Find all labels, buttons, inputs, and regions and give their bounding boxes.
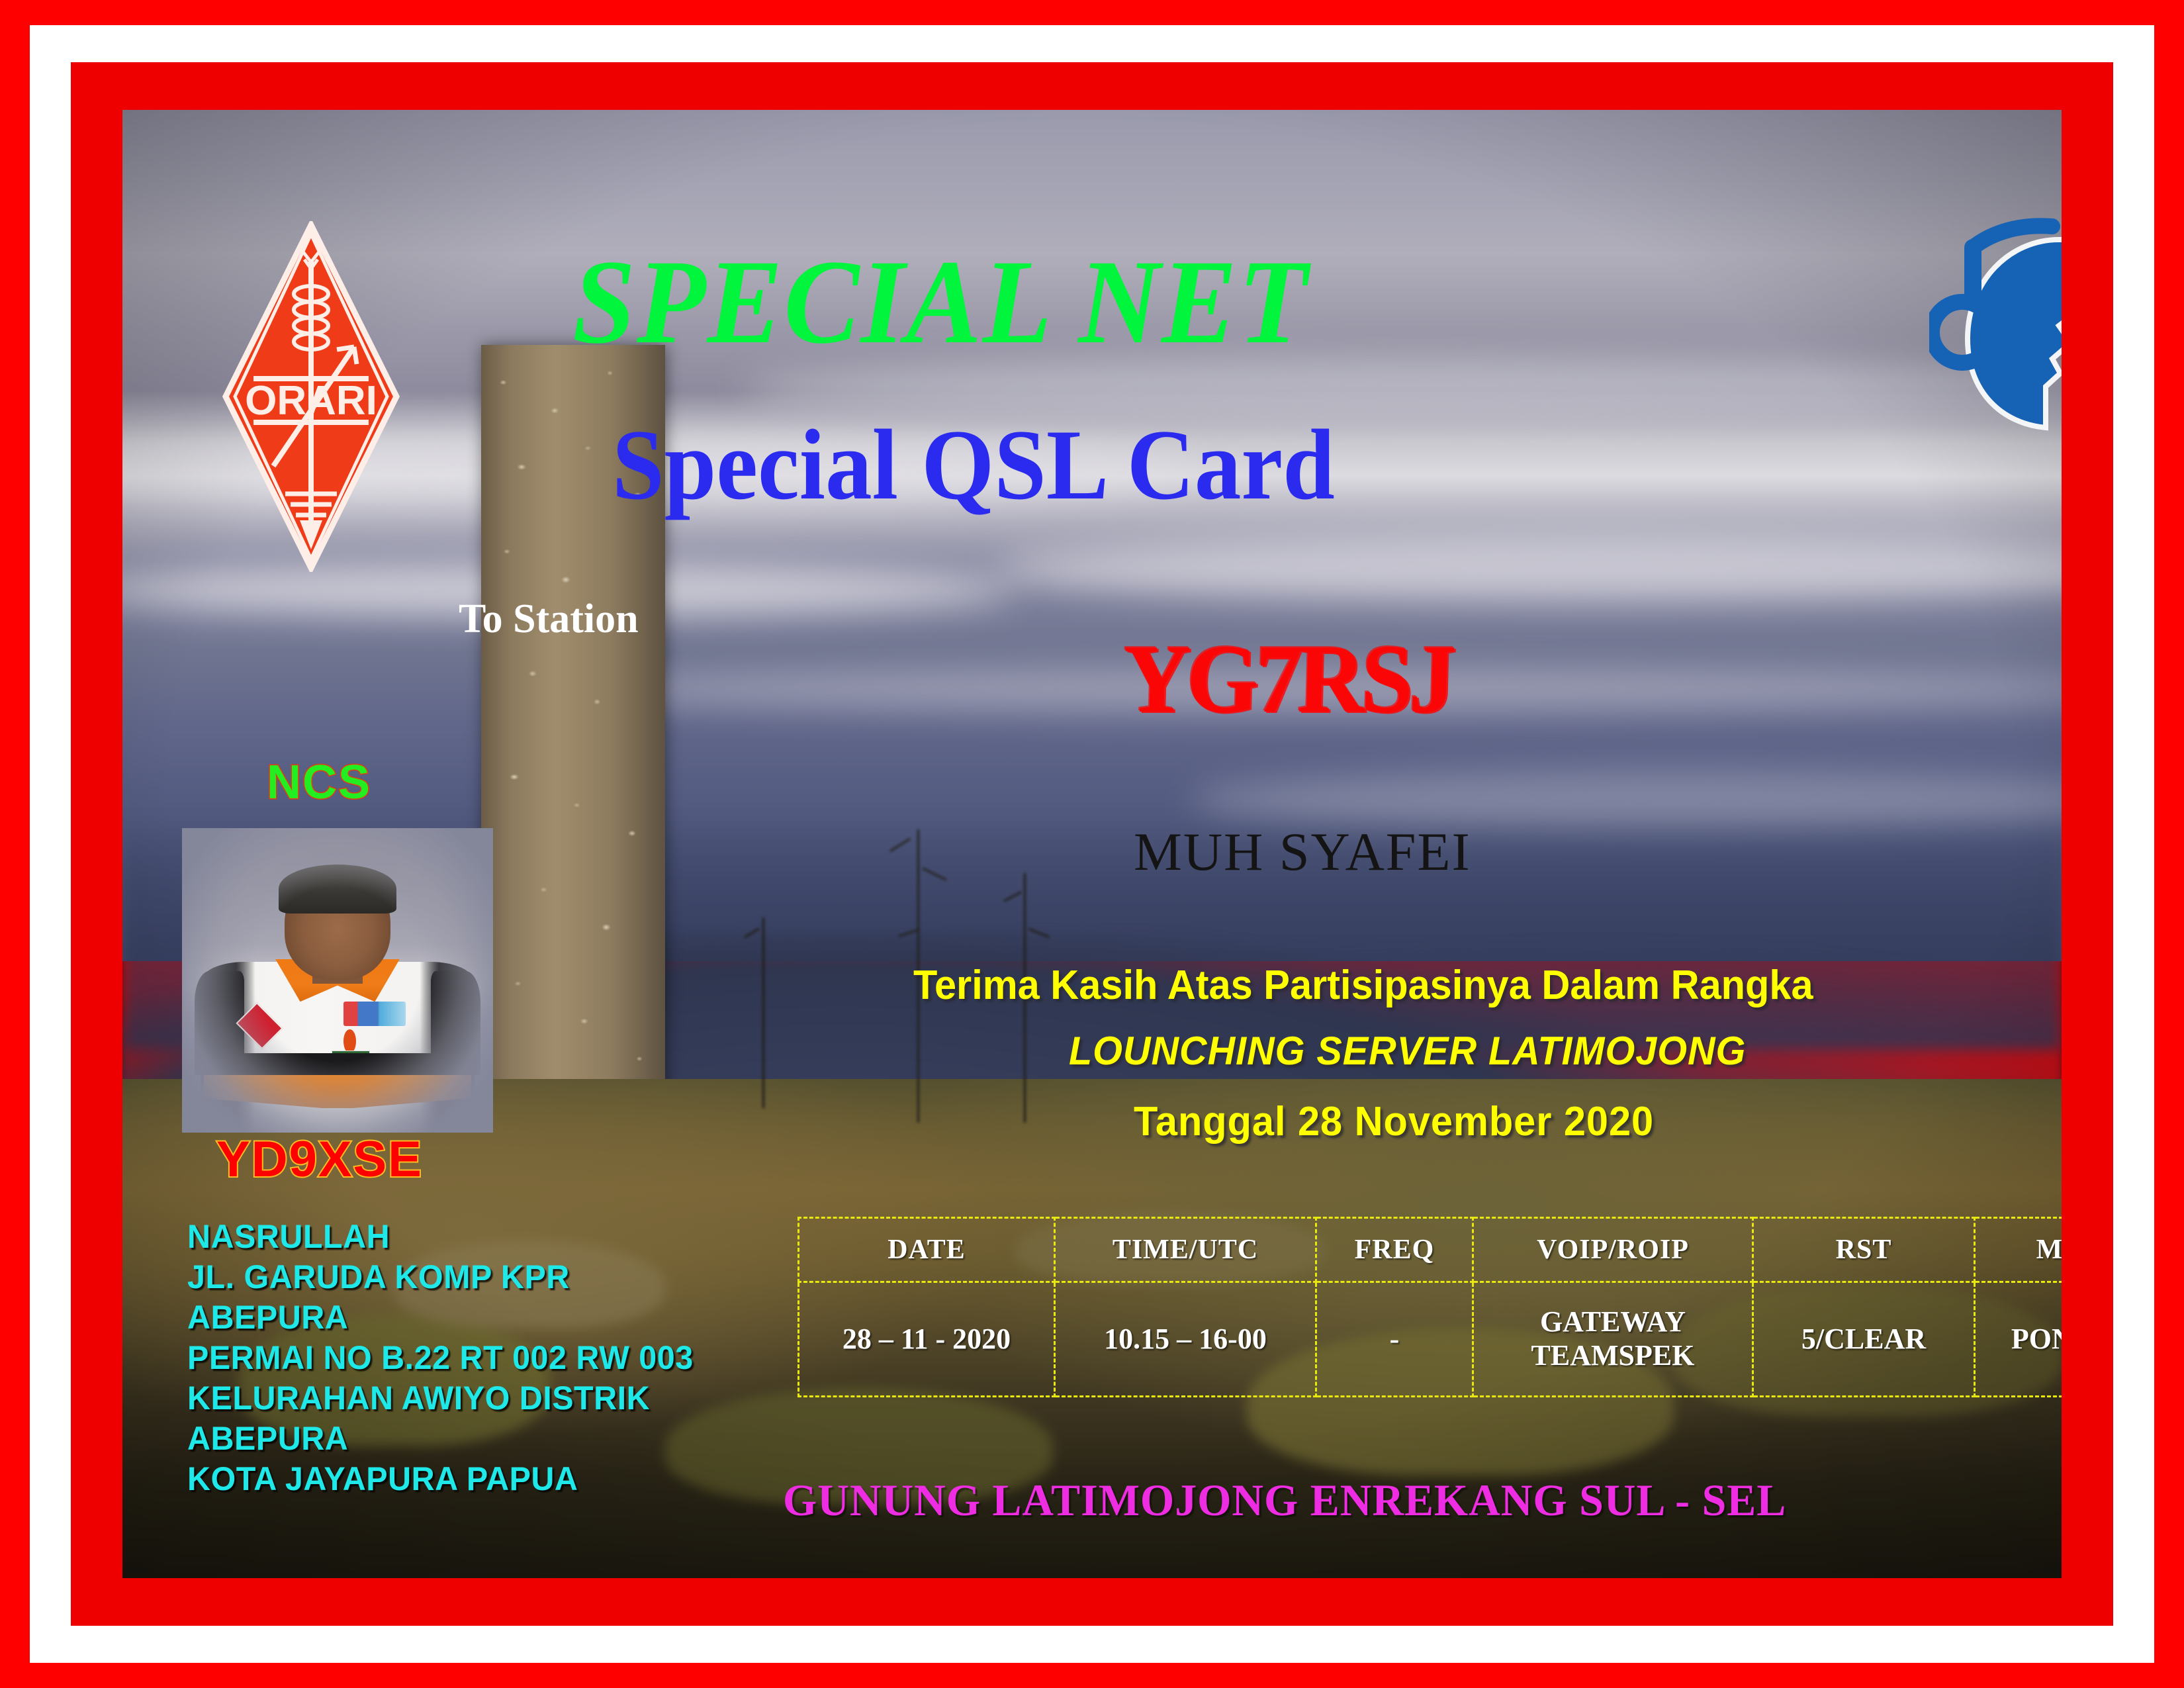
column-header-time: TIME/UTC	[1055, 1218, 1316, 1282]
head-with-headphones-icon	[1929, 209, 2062, 461]
station-callsign: YG7RSJ	[1122, 630, 1453, 728]
column-header-mode: MODE	[1975, 1218, 2062, 1282]
address-line: ABEPURA	[187, 1297, 694, 1338]
column-header-date: DATE	[799, 1218, 1055, 1282]
portrait-vignette	[182, 828, 493, 1133]
cell-freq: -	[1316, 1282, 1473, 1397]
cell-rst: 5/CLEAR	[1753, 1282, 1975, 1397]
column-header-freq: FREQ	[1316, 1218, 1473, 1282]
page-subtitle: Special QSL Card	[612, 414, 1335, 515]
mailing-address-block: NASRULLAH JL. GARUDA KOMP KPR ABEPURA PE…	[187, 1217, 709, 1499]
ncs-label: NCS	[267, 759, 371, 806]
bare-tree	[762, 917, 764, 1108]
address-line: NASRULLAH	[187, 1217, 694, 1257]
headphone-wave-logo	[1929, 209, 2062, 461]
qso-log-table: DATE TIME/UTC FREQ VOIP/ROIP RST MODE 28…	[797, 1217, 2062, 1397]
page-title: SPECIAL NET	[572, 242, 1308, 363]
address-line: ABEPURA	[187, 1419, 694, 1459]
to-station-label: To Station	[459, 598, 639, 639]
white-frame-border: ORARI	[30, 25, 2154, 1663]
thanks-message: Terima Kasih Atas Partisipasinya Dalam R…	[913, 965, 1813, 1006]
event-title: LOUNCHING SERVER LATIMOJONG	[1069, 1031, 1746, 1071]
cell-mode: PONE/CW	[1975, 1282, 2062, 1397]
background-photograph: ORARI	[122, 110, 2062, 1578]
address-line: PERMAI NO B.22 RT 002 RW 003	[187, 1338, 694, 1378]
ncs-operator-photo	[182, 828, 493, 1133]
column-header-rst: RST	[1753, 1218, 1975, 1282]
cell-date: 28 – 11 - 2020	[799, 1282, 1055, 1397]
qsl-card: ORARI	[0, 0, 2184, 1688]
orari-logo: ORARI	[222, 221, 400, 572]
address-line: JL. GARUDA KOMP KPR	[187, 1257, 694, 1297]
event-date: Tanggal 28 November 2020	[1134, 1102, 1654, 1143]
operator-name: MUH SYAFEI	[1134, 825, 1471, 879]
orari-wordmark: ORARI	[245, 378, 377, 424]
location-caption: GUNUNG LATIMOJONG ENREKANG SUL - SEL	[783, 1477, 1786, 1523]
column-header-voip: VOIP/ROIP	[1473, 1218, 1753, 1282]
ncs-callsign: YD9XSE	[216, 1135, 423, 1185]
address-line: KOTA JAYAPURA PAPUA	[187, 1459, 694, 1499]
inner-red-border: ORARI	[71, 62, 2113, 1626]
orari-diamond-icon: ORARI	[222, 221, 400, 572]
table-row: 28 – 11 - 2020 10.15 – 16-00 - GATEWAYTE…	[799, 1282, 2062, 1397]
address-line: KELURAHAN AWIYO DISTRIK	[187, 1378, 694, 1419]
cell-voip: GATEWAYTEAMSPEK	[1473, 1282, 1753, 1397]
table-header-row: DATE TIME/UTC FREQ VOIP/ROIP RST MODE	[799, 1218, 2062, 1282]
cell-time: 10.15 – 16-00	[1055, 1282, 1316, 1397]
